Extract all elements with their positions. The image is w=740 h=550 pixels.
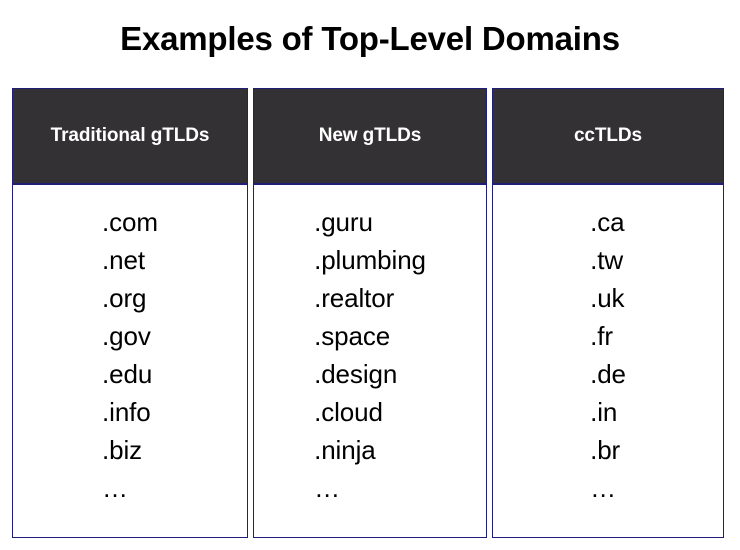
list-item: .org [102, 279, 146, 317]
column-header-traditional-gtlds: Traditional gTLDs [12, 88, 248, 185]
list-item: .guru [314, 203, 373, 241]
list-item: .ca [590, 203, 624, 241]
column-body-traditional-gtlds: .com .net .org .gov .edu .info .biz … [12, 185, 248, 538]
list-item: .de [590, 355, 626, 393]
tld-column-new-gtlds: New gTLDs .guru .plumbing .realtor .spac… [253, 88, 487, 538]
list-item: .com [102, 203, 158, 241]
list-item: .edu [102, 355, 152, 393]
list-item: .info [102, 393, 151, 431]
list-item-ellipsis: … [590, 469, 616, 507]
list-item: .uk [590, 279, 624, 317]
tld-column-cctlds: ccTLDs .ca .tw .uk .fr .de .in .br … [492, 88, 724, 538]
list-item: .biz [102, 431, 142, 469]
list-item: .design [314, 355, 397, 393]
list-item: .in [590, 393, 617, 431]
list-item: .net [102, 241, 145, 279]
column-header-cctlds: ccTLDs [492, 88, 724, 185]
tld-list-cctlds: .ca .tw .uk .fr .de .in .br … [590, 203, 626, 507]
column-header-new-gtlds: New gTLDs [253, 88, 487, 185]
list-item-ellipsis: … [102, 469, 128, 507]
list-item: .fr [590, 317, 613, 355]
tld-list-new-gtlds: .guru .plumbing .realtor .space .design … [314, 203, 426, 507]
list-item: .cloud [314, 393, 383, 431]
tld-table: Traditional gTLDs .com .net .org .gov .e… [12, 88, 724, 538]
list-item: .realtor [314, 279, 394, 317]
slide-canvas: Examples of Top-Level Domains Traditiona… [0, 0, 740, 550]
list-item: .br [590, 431, 620, 469]
tld-column-traditional-gtlds: Traditional gTLDs .com .net .org .gov .e… [12, 88, 248, 538]
list-item: .tw [590, 241, 623, 279]
list-item: .gov [102, 317, 151, 355]
column-body-cctlds: .ca .tw .uk .fr .de .in .br … [492, 185, 724, 538]
column-body-new-gtlds: .guru .plumbing .realtor .space .design … [253, 185, 487, 538]
list-item: .plumbing [314, 241, 426, 279]
page-title: Examples of Top-Level Domains [0, 18, 740, 60]
list-item: .ninja [314, 431, 376, 469]
list-item-ellipsis: … [314, 469, 340, 507]
list-item: .space [314, 317, 390, 355]
tld-list-traditional-gtlds: .com .net .org .gov .edu .info .biz … [102, 203, 158, 507]
